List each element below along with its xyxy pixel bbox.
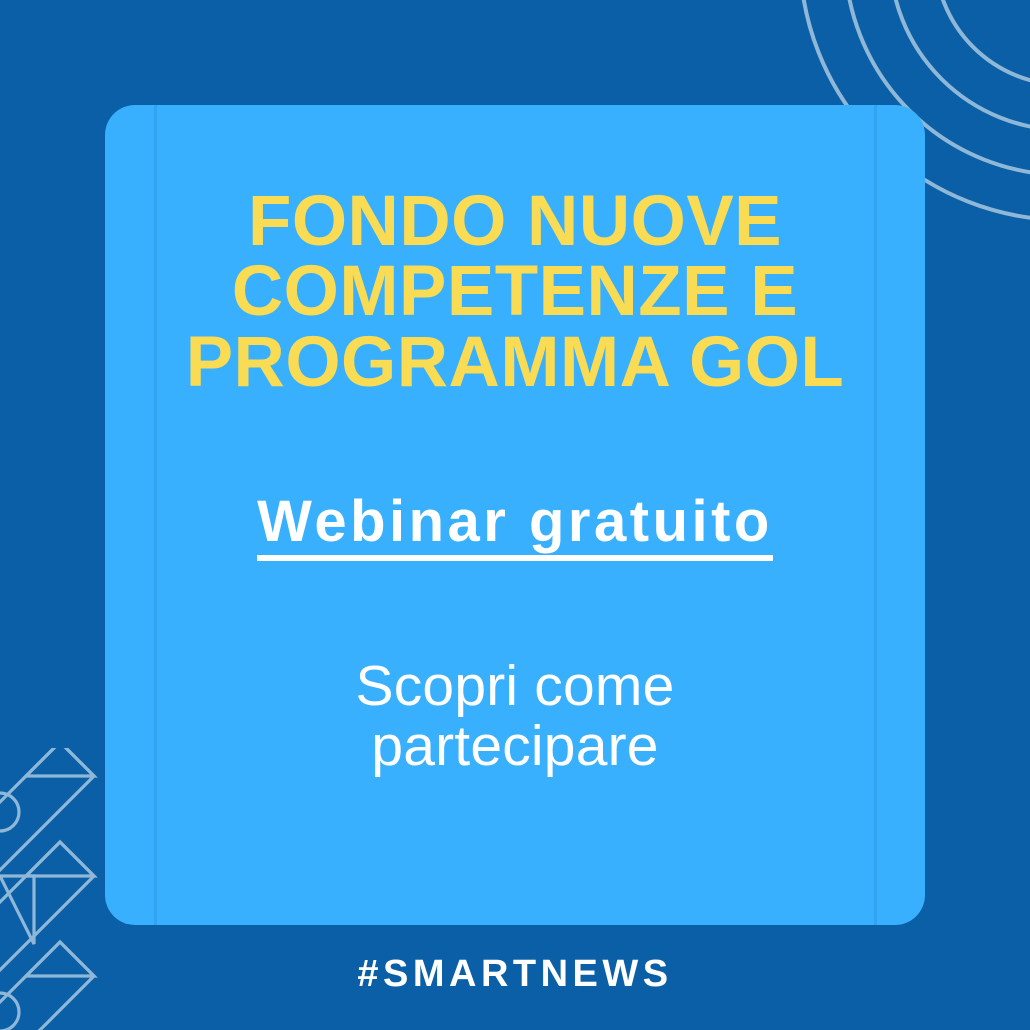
call-to-action-text: Scopri come partecipare — [235, 657, 795, 777]
hashtag-footer: #SMARTNEWS — [0, 955, 1030, 993]
subtitle-webinar: Webinar gratuito — [257, 492, 773, 561]
card-content: FONDO NUOVE COMPETENZE E PROGRAMMA GOL W… — [105, 105, 925, 925]
headline-title: FONDO NUOVE COMPETENZE E PROGRAMMA GOL — [148, 187, 882, 398]
subtitle-wrapper: Webinar gratuito — [257, 492, 773, 561]
social-post-poster: FONDO NUOVE COMPETENZE E PROGRAMMA GOL W… — [0, 0, 1030, 1030]
content-card: FONDO NUOVE COMPETENZE E PROGRAMMA GOL W… — [105, 105, 925, 925]
